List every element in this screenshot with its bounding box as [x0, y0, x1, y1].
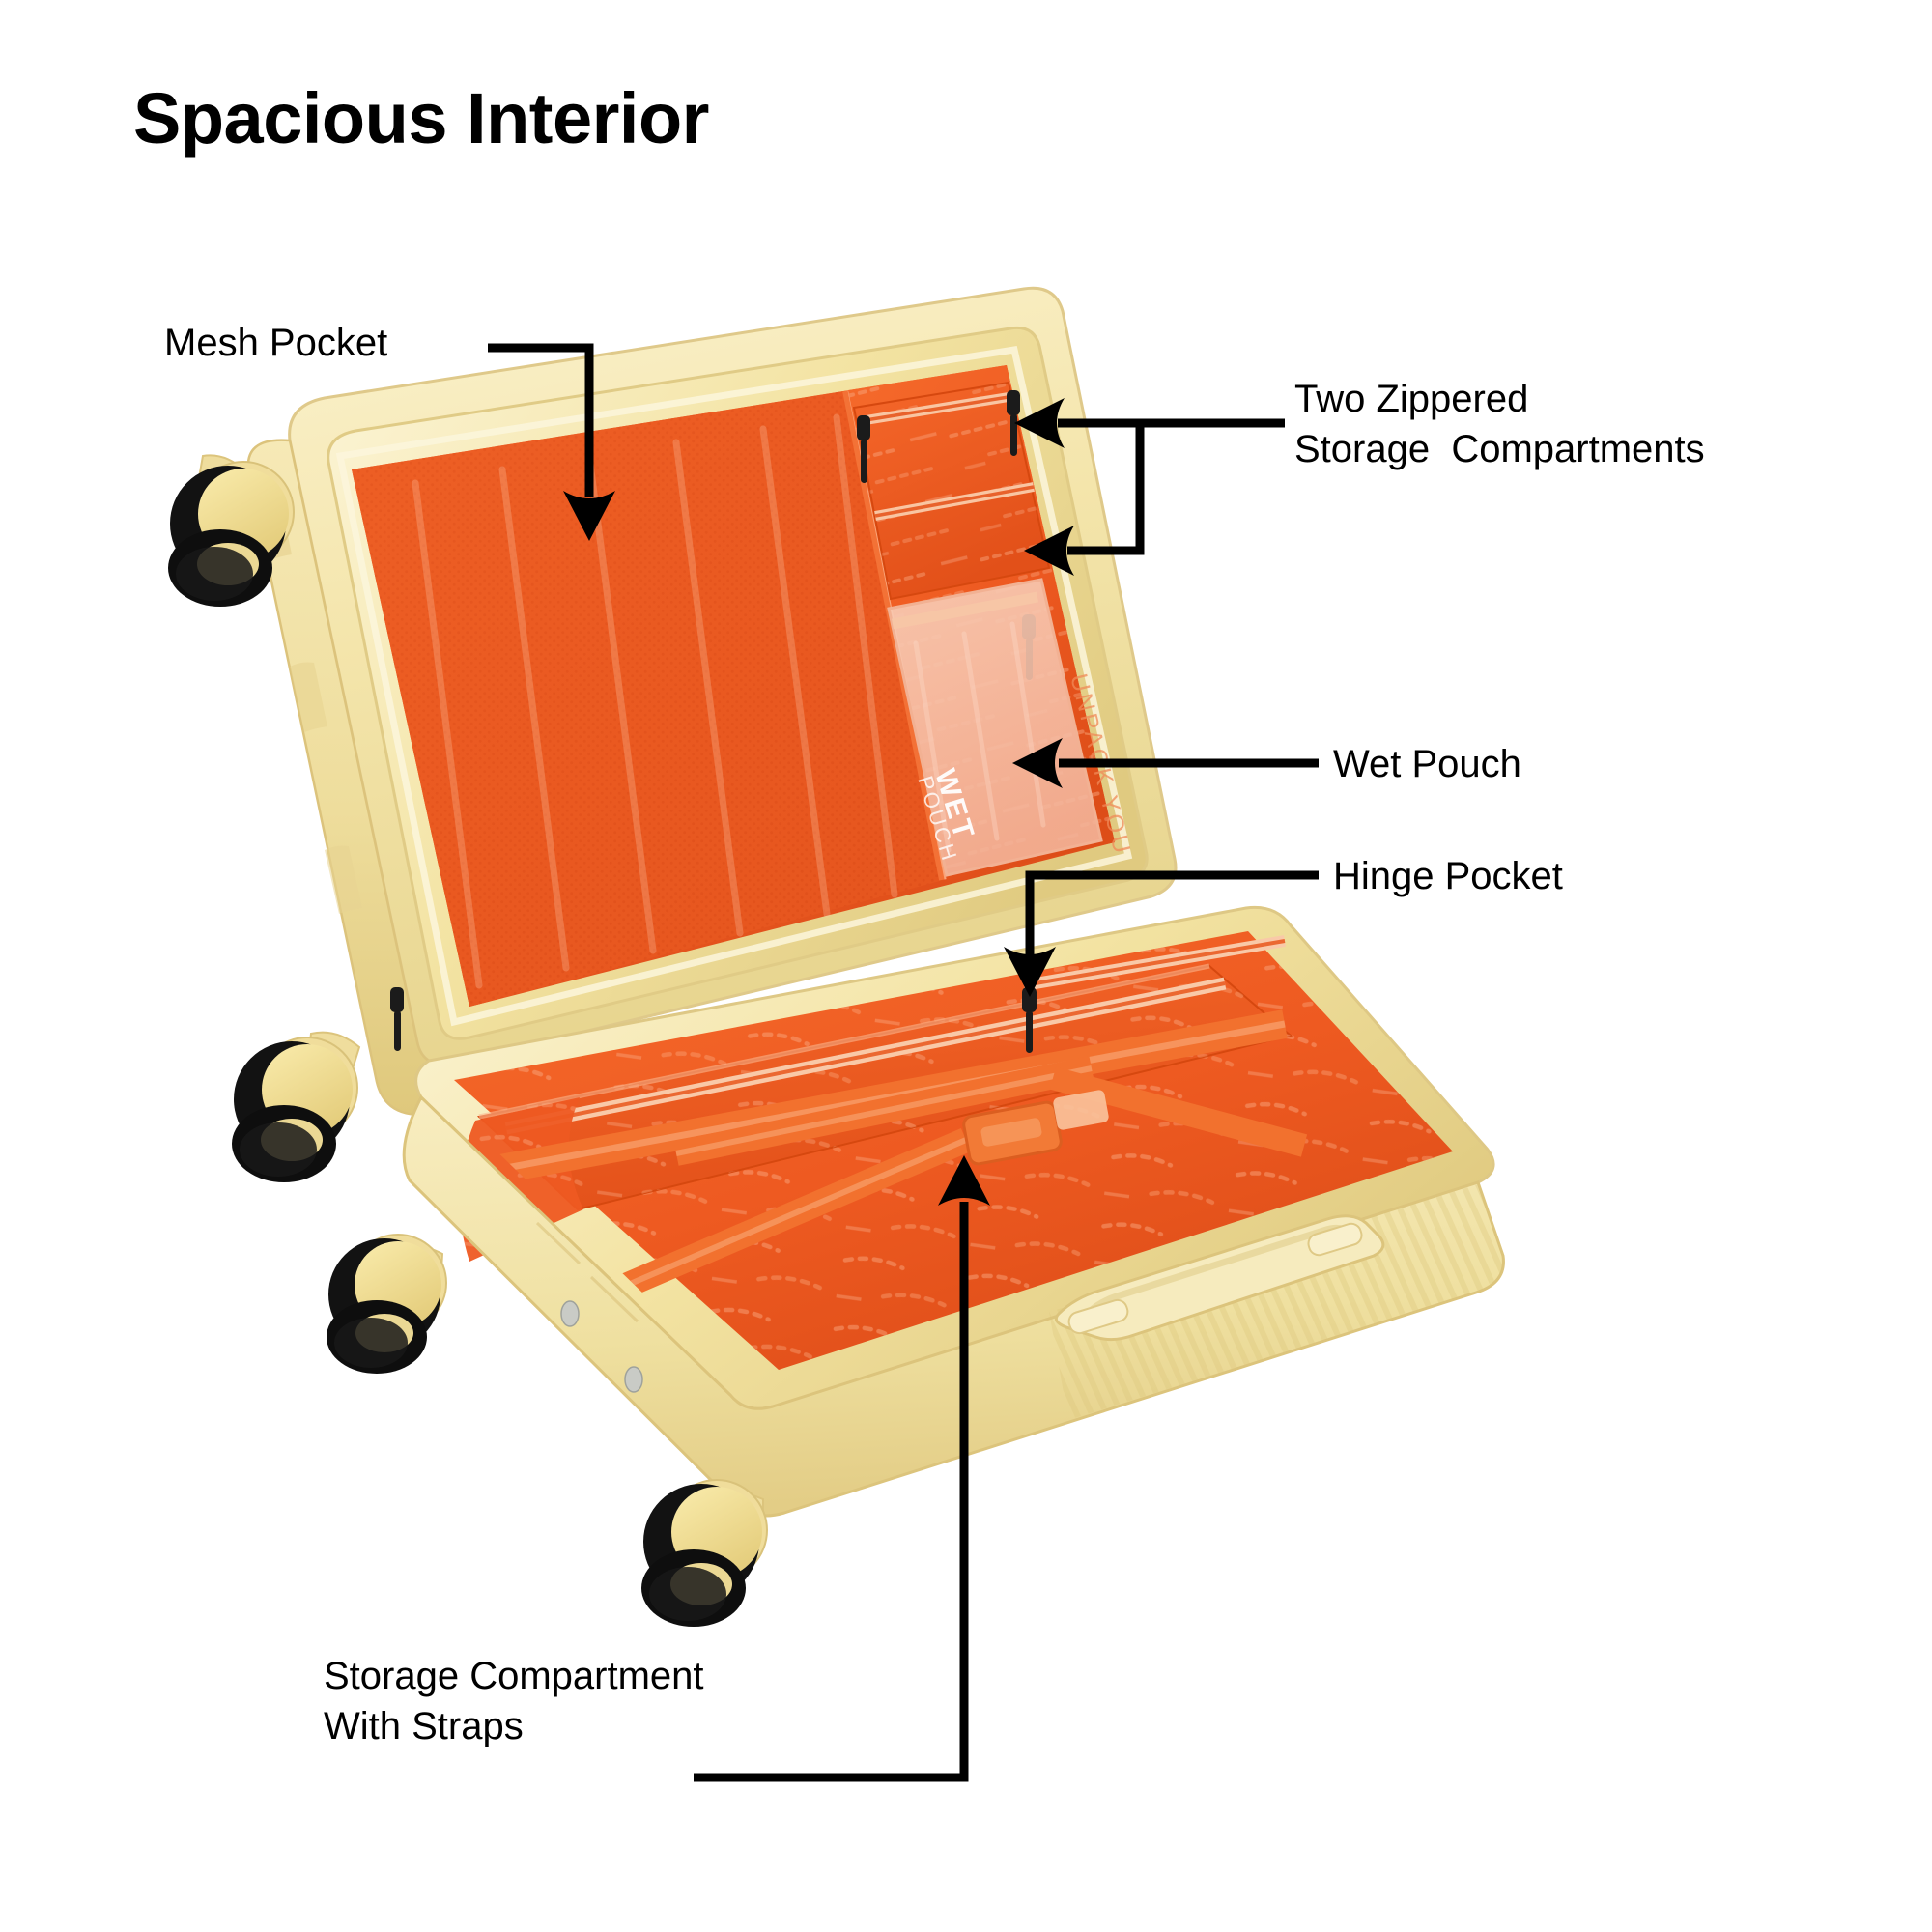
suitcase-illustration: WET POUCH UNPACK YOU [0, 0, 1932, 1932]
rivet [561, 1301, 579, 1326]
callout-label-storage-compartment-with-straps: Storage CompartmentWith Straps [324, 1651, 704, 1751]
callout-line-1: Storage Compartment [324, 1655, 704, 1697]
callout-label-hinge-pocket: Hinge Pocket [1333, 852, 1563, 901]
callout-line-1: Two Zippered [1294, 378, 1528, 420]
callout-label-two-zippered-storage-compartments: Two ZipperedStorage Compartments [1294, 374, 1705, 474]
callout-label-wet-pouch: Wet Pouch [1333, 740, 1521, 789]
callout-line-2: With Straps [324, 1705, 524, 1747]
callout-line-2: Storage Compartments [1294, 428, 1705, 470]
rivet [625, 1367, 642, 1392]
spinner-wheel-base-front [641, 1480, 767, 1627]
callout-label-mesh-pocket: Mesh Pocket [164, 319, 387, 368]
infographic-canvas: WET POUCH UNPACK YOU [0, 0, 1932, 1932]
spinner-wheel-base-left [327, 1235, 446, 1374]
page-title: Spacious Interior [133, 83, 709, 155]
spinner-wheel-lid-bottom [232, 1033, 359, 1182]
